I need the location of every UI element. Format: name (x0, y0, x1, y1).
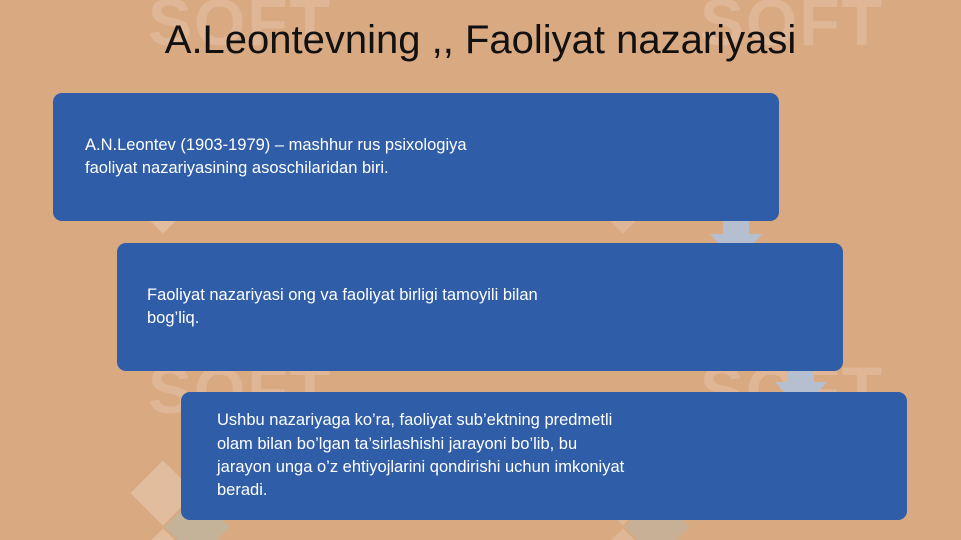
content-box-1-text: A.N.Leontev (1903-1979) – mashhur rus ps… (75, 134, 757, 181)
content-box-2-text: Faoliyat nazariyasi ong va faoliyat birl… (139, 284, 821, 331)
slide-canvas: SOFT SOFT SOFT SOFT A.Leontevning ,, Fao… (0, 0, 961, 540)
content-box-3: Ushbu nazariyaga ko’ra, faoliyat sub’ekt… (181, 392, 907, 520)
content-box-1: A.N.Leontev (1903-1979) – mashhur rus ps… (53, 93, 779, 221)
page-title: A.Leontevning ,, Faoliyat nazariyasi (0, 18, 961, 63)
content-box-2: Faoliyat nazariyasi ong va faoliyat birl… (117, 243, 843, 371)
content-box-3-text: Ushbu nazariyaga ko’ra, faoliyat sub’ekt… (203, 409, 885, 503)
